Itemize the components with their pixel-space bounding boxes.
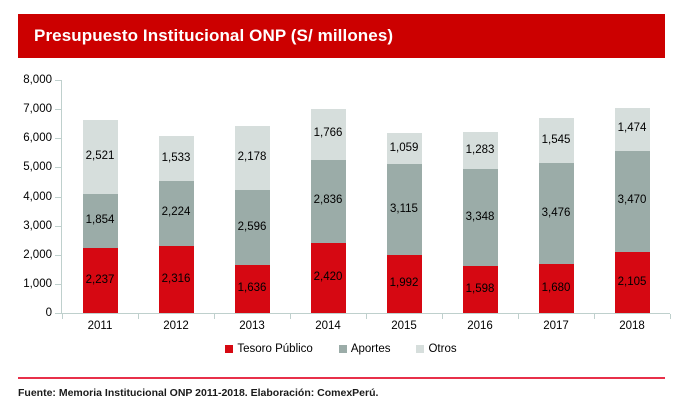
- y-axis-tick-label: 3,000: [6, 220, 52, 232]
- x-axis-category-label: 2013: [214, 320, 290, 332]
- bar-segment[interactable]: 1,533: [159, 136, 194, 181]
- bar-value-label: 2,224: [162, 207, 191, 219]
- legend-swatch-icon: [339, 345, 347, 353]
- bar-group[interactable]: 1,9923,1151,059: [387, 133, 422, 313]
- bar-value-label: 1,636: [238, 283, 267, 295]
- bar-segment[interactable]: 3,115: [387, 164, 422, 255]
- x-axis-tick: [442, 314, 443, 319]
- x-axis-category-label: 2017: [518, 320, 594, 332]
- bar-segment[interactable]: 1,283: [463, 132, 498, 169]
- bar-segment[interactable]: 1,992: [387, 255, 422, 313]
- bar-segment[interactable]: 1,854: [83, 194, 118, 248]
- bar-segment[interactable]: 1,636: [235, 265, 270, 313]
- bar-group[interactable]: 1,5983,3481,283: [463, 132, 498, 313]
- x-axis-tick: [214, 314, 215, 319]
- legend-label: Otros: [428, 343, 456, 355]
- bar-group[interactable]: 2,1053,4701,474: [615, 108, 650, 313]
- bar-group[interactable]: 1,6362,5962,178: [235, 126, 270, 313]
- bar-segment[interactable]: 3,348: [463, 169, 498, 267]
- x-axis-tick: [138, 314, 139, 319]
- legend-label: Tesoro Público: [237, 343, 312, 355]
- bar-segment[interactable]: 1,680: [539, 264, 574, 313]
- bar-value-label: 3,115: [390, 204, 418, 216]
- bar-value-label: 1,533: [162, 153, 191, 165]
- x-axis-category-label: 2018: [594, 320, 670, 332]
- bar-value-label: 2,521: [86, 151, 115, 163]
- bar-segment[interactable]: 1,545: [539, 118, 574, 163]
- legend-item[interactable]: Tesoro Público: [225, 343, 312, 355]
- bar-segment[interactable]: 3,476: [539, 163, 574, 264]
- bar-segment[interactable]: 2,237: [83, 248, 118, 313]
- x-axis-category-label: 2015: [366, 320, 442, 332]
- plot-area: 2,2371,8542,5212,3162,2241,5331,6362,596…: [62, 80, 670, 313]
- y-axis-tick: [55, 226, 61, 227]
- chart-title-banner: Presupuesto Institucional ONP (S/ millon…: [18, 14, 665, 58]
- bar-segment[interactable]: 1,766: [311, 109, 346, 160]
- bar-value-label: 2,178: [238, 152, 267, 164]
- x-axis-tick: [594, 314, 595, 319]
- bar-segment[interactable]: 2,521: [83, 120, 118, 193]
- legend-label: Aportes: [351, 343, 391, 355]
- y-axis-tick-label: 8,000: [6, 74, 52, 86]
- y-axis-tick-label: 0: [6, 307, 52, 319]
- bar-segment[interactable]: 1,598: [463, 266, 498, 313]
- bar-value-label: 1,545: [542, 135, 571, 147]
- y-axis-tick: [55, 284, 61, 285]
- bar-value-label: 1,680: [542, 283, 571, 295]
- bar-segment[interactable]: 2,596: [235, 190, 270, 266]
- x-axis-tick: [670, 314, 671, 319]
- bar-value-label: 3,470: [618, 195, 647, 207]
- bar-group[interactable]: 2,3162,2241,533: [159, 136, 194, 313]
- y-axis-tick: [55, 138, 61, 139]
- bar-segment[interactable]: 3,470: [615, 151, 650, 252]
- footer-divider: [18, 377, 665, 379]
- bar-group[interactable]: 2,2371,8542,521: [83, 120, 118, 313]
- y-axis-tick-label: 7,000: [6, 103, 52, 115]
- bar-segment[interactable]: 2,224: [159, 181, 194, 246]
- bar-value-label: 1,283: [466, 145, 495, 157]
- x-axis-category-label: 2012: [138, 320, 214, 332]
- bar-value-label: 1,766: [314, 128, 343, 140]
- bar-group[interactable]: 1,6803,4761,545: [539, 118, 574, 313]
- y-axis-tick: [55, 80, 61, 81]
- bar-value-label: 2,105: [618, 277, 647, 289]
- y-axis-tick: [55, 255, 61, 256]
- bar-segment[interactable]: 2,105: [615, 252, 650, 313]
- bar-segment[interactable]: 2,316: [159, 246, 194, 313]
- bar-value-label: 1,059: [390, 143, 419, 155]
- bar-segment[interactable]: 2,420: [311, 243, 346, 313]
- bar-value-label: 1,992: [390, 278, 419, 290]
- bar-segment[interactable]: 1,059: [387, 133, 422, 164]
- source-note: Fuente: Memoria Institucional ONP 2011-2…: [18, 387, 378, 399]
- bar-value-label: 2,596: [238, 222, 267, 234]
- bar-segment[interactable]: 1,474: [615, 108, 650, 151]
- x-axis-tick: [518, 314, 519, 319]
- y-axis-tick: [55, 167, 61, 168]
- bar-value-label: 3,348: [466, 212, 495, 224]
- legend-swatch-icon: [225, 345, 233, 353]
- chart-legend: Tesoro PúblicoAportesOtros: [0, 343, 682, 355]
- x-axis-tick: [290, 314, 291, 319]
- y-axis-tick-label: 4,000: [6, 191, 52, 203]
- y-axis-tick-label: 2,000: [6, 249, 52, 261]
- y-axis-tick-label: 1,000: [6, 278, 52, 290]
- legend-item[interactable]: Otros: [416, 343, 456, 355]
- x-axis-line: [56, 313, 670, 314]
- x-axis-category-label: 2011: [62, 320, 138, 332]
- y-axis-tick-label: 5,000: [6, 161, 52, 173]
- x-axis-tick: [366, 314, 367, 319]
- y-axis-tick: [55, 313, 61, 314]
- bar-value-label: 1,474: [618, 123, 647, 135]
- bar-segment[interactable]: 2,836: [311, 160, 346, 243]
- x-axis-tick: [62, 314, 63, 319]
- chart-container: 8,0007,0006,0005,0004,0003,0002,0001,000…: [0, 58, 682, 370]
- y-axis-tick: [55, 109, 61, 110]
- x-axis-category-label: 2014: [290, 320, 366, 332]
- y-axis-labels: 8,0007,0006,0005,0004,0003,0002,0001,000…: [0, 58, 52, 370]
- bar-value-label: 3,476: [542, 208, 571, 220]
- bar-value-label: 2,316: [162, 274, 191, 286]
- y-axis-tick: [55, 197, 61, 198]
- legend-swatch-icon: [416, 345, 424, 353]
- bar-value-label: 2,237: [86, 275, 115, 287]
- bar-value-label: 2,836: [314, 195, 343, 207]
- bar-value-label: 1,854: [86, 215, 115, 227]
- bar-value-label: 2,420: [314, 272, 343, 284]
- bar-segment[interactable]: 2,178: [235, 126, 270, 189]
- page-title: Presupuesto Institucional ONP (S/ millon…: [18, 26, 393, 46]
- legend-item[interactable]: Aportes: [339, 343, 391, 355]
- y-axis-tick-label: 6,000: [6, 132, 52, 144]
- x-axis-category-label: 2016: [442, 320, 518, 332]
- bar-value-label: 1,598: [466, 284, 495, 296]
- bar-group[interactable]: 2,4202,8361,766: [311, 109, 346, 313]
